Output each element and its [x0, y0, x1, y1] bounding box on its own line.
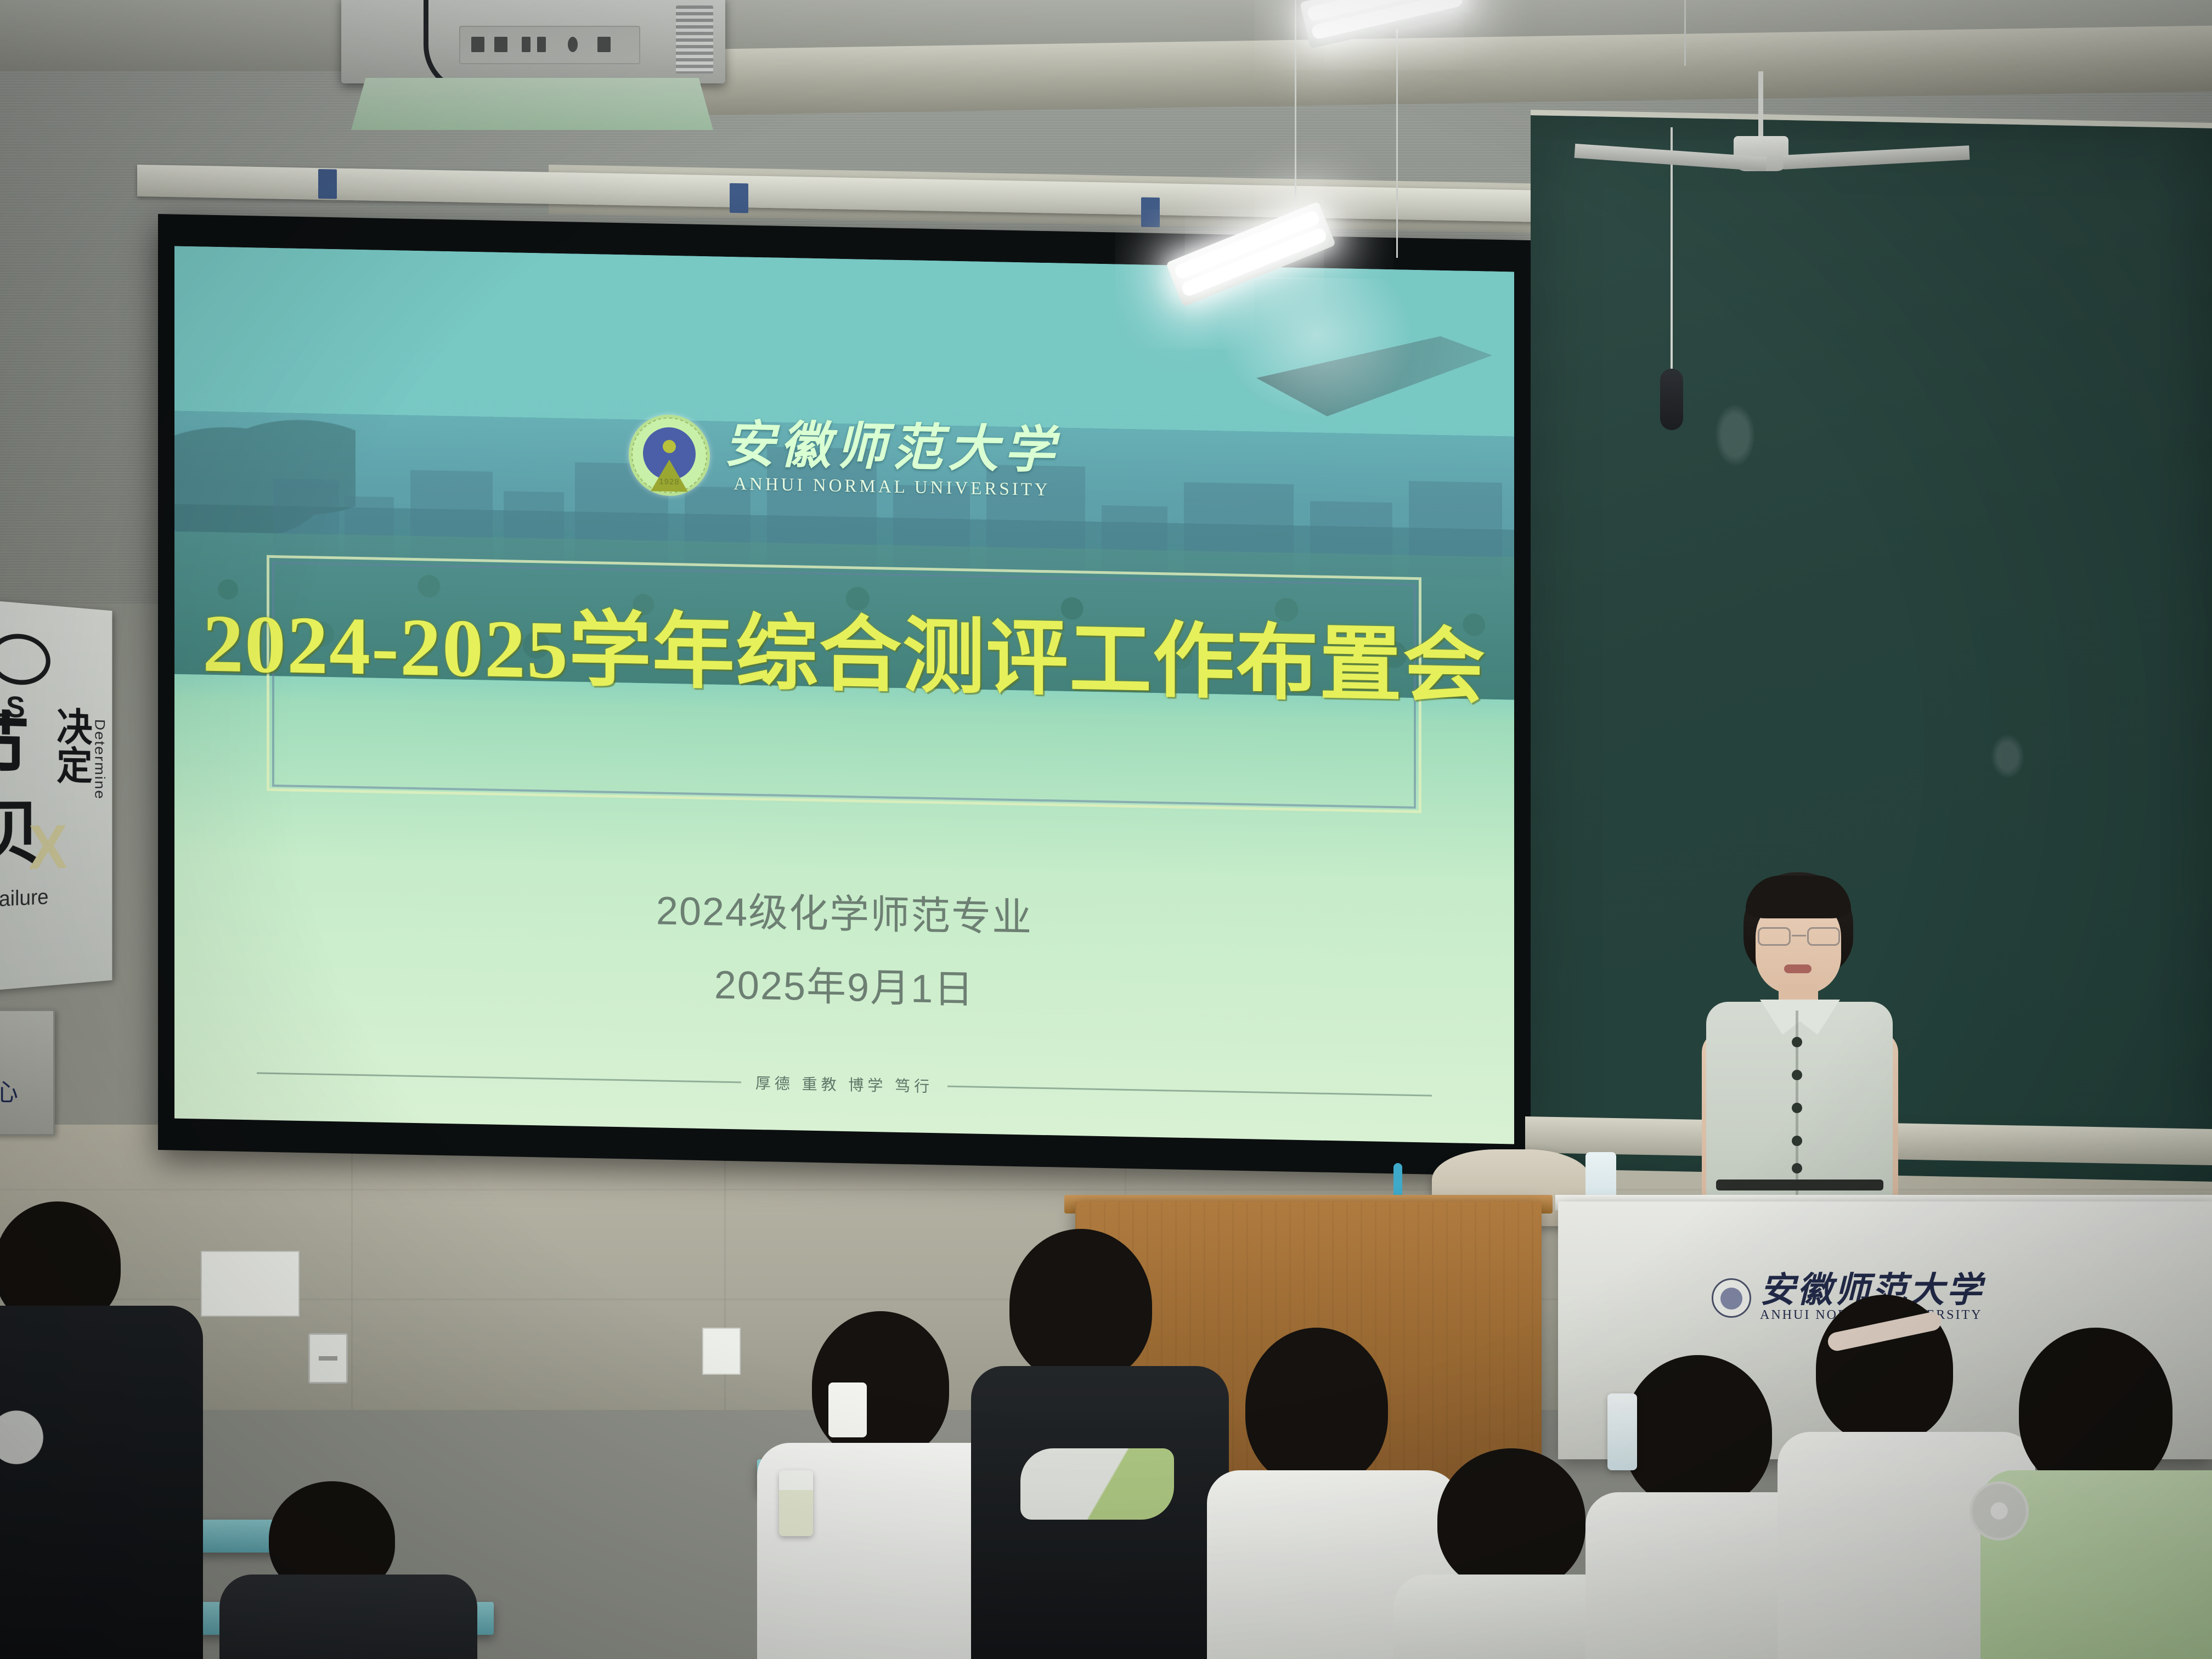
university-seal-icon: 1928: [629, 414, 710, 496]
university-name-en: ANHUI NORMAL UNIVERSITY: [733, 474, 1051, 500]
poster-determine-label: Determine: [91, 719, 107, 800]
drinking-cup[interactable]: [779, 1470, 813, 1536]
slide-brand-text: 安徽师范大学 ANHUI NORMAL UNIVERSITY: [724, 419, 1060, 500]
slide-subtitle-date: 2025年9月1日: [174, 942, 1514, 1025]
student: [982, 1229, 1218, 1659]
student: [0, 1201, 230, 1659]
presenter-glasses-icon: [1758, 927, 1840, 946]
microphone-cable: [1671, 127, 1673, 380]
slide-motto-row: 厚德 重教 博学 笃行: [257, 1062, 1432, 1106]
poster-vertical-cn: 决定: [53, 706, 89, 784]
student: [236, 1481, 466, 1659]
poster-failure-label: Failure: [0, 885, 48, 912]
classroom-photo: 1928 安徽师范大学 ANHUI NORMAL UNIVERSITY 2024…: [0, 0, 2212, 1659]
lamp-wire-3: [1684, 0, 1686, 66]
projector-body: [341, 0, 725, 83]
student-shirt-graphic: [1020, 1448, 1174, 1520]
student-head: [2019, 1328, 2172, 1492]
presenter-button: [1792, 1163, 1802, 1173]
presenter-mouth: [1784, 964, 1812, 973]
slide-subtitle-major: 2024级化学师范专业: [174, 869, 1514, 952]
presenter-fringe: [1746, 876, 1851, 918]
presenter-button: [1792, 1136, 1802, 1146]
projection-screen: 1928 安徽师范大学 ANHUI NORMAL UNIVERSITY 2024…: [158, 214, 1531, 1176]
wall-sign-board: 理中心: [0, 1009, 55, 1136]
presenter-belt: [1716, 1180, 1883, 1190]
ceiling-fan-rod: [1758, 71, 1763, 140]
magnifier-icon: [0, 632, 50, 686]
student-head: [1437, 1448, 1585, 1591]
student-head: [1624, 1355, 1772, 1509]
seal-figure-body-icon: [651, 460, 688, 492]
student-head: [1245, 1328, 1388, 1487]
presenter-button: [1792, 1070, 1802, 1080]
wall-switch-plate[interactable]: [702, 1328, 741, 1375]
seal-year: 1928: [659, 477, 679, 487]
screen-clip-right: [1141, 198, 1160, 228]
student-head: [1009, 1229, 1152, 1383]
poster-char-jie: 节: [0, 710, 29, 784]
poster-x-mark: X: [29, 811, 67, 884]
slide-motto: 厚德 重教 博学 笃行: [755, 1071, 933, 1097]
student-torso: [219, 1575, 477, 1659]
projector-lens-housing: [351, 78, 713, 130]
lamp-wire-2: [1295, 0, 1296, 236]
student: [1997, 1328, 2212, 1659]
wall-poster-details: AILS 节 Or 贝 X 决定 Determine Failure: [0, 598, 112, 993]
motto-rule-right: [947, 1085, 1432, 1096]
presenter-button: [1792, 1037, 1802, 1047]
presenter-button: [1792, 1103, 1802, 1113]
hanging-microphone: [1660, 369, 1683, 430]
university-name-cn: 安徽师范大学: [724, 419, 1060, 476]
screen-clip-mid: [730, 183, 748, 213]
podium-seal-icon: [1712, 1278, 1751, 1318]
lamp-wire-1: [1396, 0, 1398, 258]
wall-socket[interactable]: [308, 1333, 348, 1384]
portable-fan[interactable]: [1970, 1481, 2029, 1541]
slide-surface: 1928 安徽师范大学 ANHUI NORMAL UNIVERSITY 2024…: [174, 246, 1514, 1144]
student-shirt-graphic: [0, 1383, 71, 1492]
ceiling-projector: [341, 0, 725, 133]
hair-clip-icon: [828, 1383, 867, 1437]
presenter: [1701, 872, 1898, 1245]
screen-clip-left: [318, 169, 337, 199]
wall-sign-text: 理中心: [0, 1073, 20, 1108]
seal-figure-head-icon: [663, 440, 676, 453]
water-bottle-desk[interactable]: [1607, 1393, 1637, 1470]
motto-rule-left: [257, 1072, 741, 1083]
projector-vent-icon: [676, 5, 713, 74]
